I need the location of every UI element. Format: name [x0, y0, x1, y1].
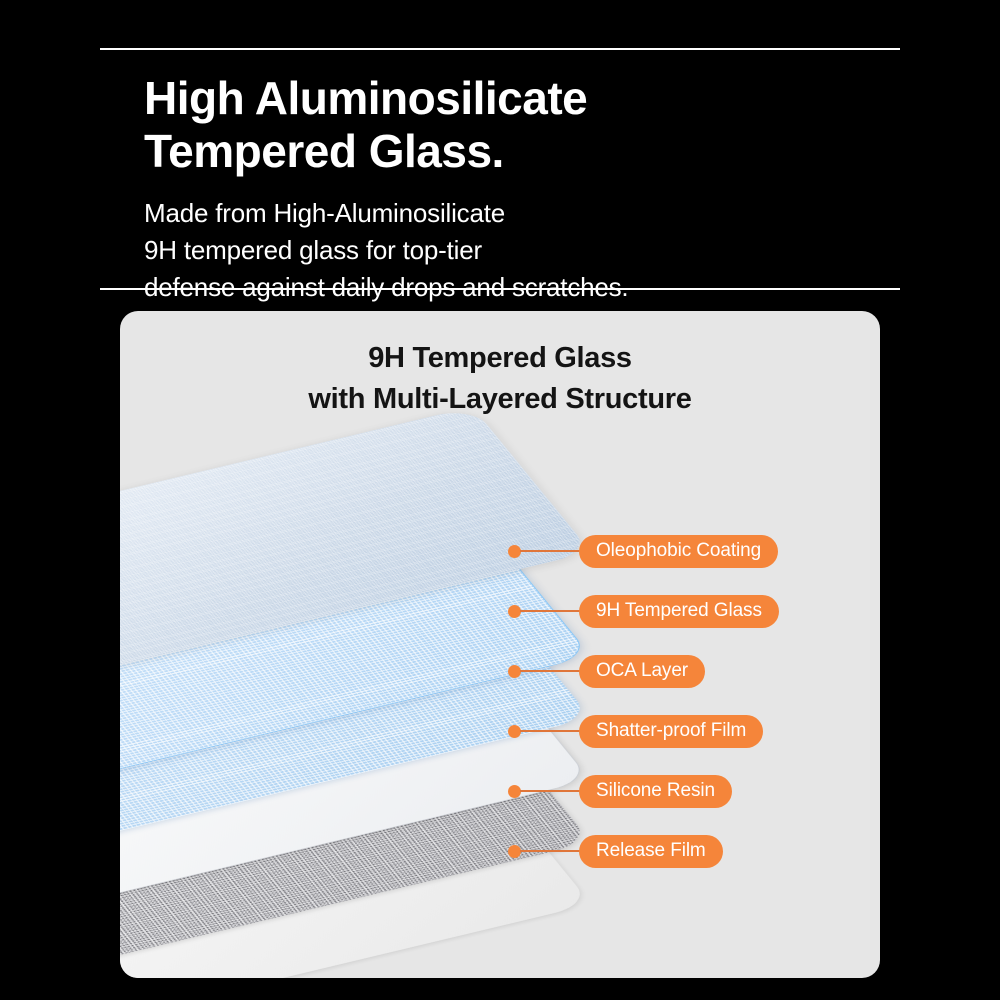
callout-group: Oleophobic Coating 9H Tempered Glass OCA…	[0, 0, 1000, 1000]
callout-leader-line	[520, 670, 582, 673]
product-feature-graphic: High Aluminosilicate Tempered Glass. Mad…	[0, 0, 1000, 1000]
callout-leader-line	[520, 730, 582, 733]
callout-label-9h-tempered-glass: 9H Tempered Glass	[579, 595, 779, 628]
callout-9h-tempered-glass: 9H Tempered Glass	[508, 594, 779, 628]
callout-leader-line	[520, 850, 582, 853]
callout-leader-line	[520, 550, 582, 553]
callout-label-release-film: Release Film	[579, 835, 723, 868]
callout-leader-line	[520, 610, 582, 613]
callout-label-shatter-proof-film: Shatter-proof Film	[579, 715, 763, 748]
callout-oca-layer: OCA Layer	[508, 654, 705, 688]
callout-silicone-resin: Silicone Resin	[508, 774, 732, 808]
callout-leader-line	[520, 790, 582, 793]
callout-oleophobic-coating: Oleophobic Coating	[508, 534, 778, 568]
callout-label-oleophobic-coating: Oleophobic Coating	[579, 535, 778, 568]
callout-release-film: Release Film	[508, 834, 723, 868]
callout-label-silicone-resin: Silicone Resin	[579, 775, 732, 808]
callout-label-oca-layer: OCA Layer	[579, 655, 705, 688]
callout-shatter-proof-film: Shatter-proof Film	[508, 714, 763, 748]
